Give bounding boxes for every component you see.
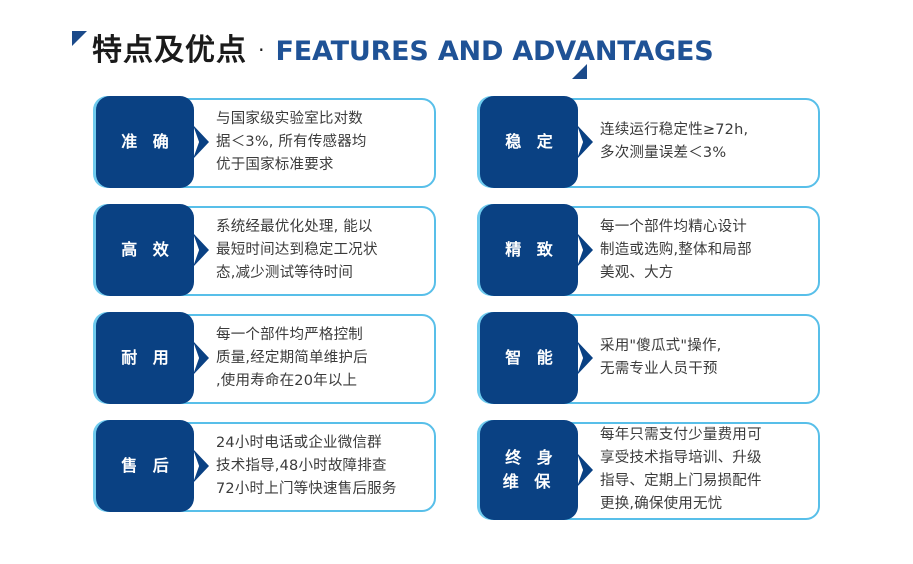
page-title-cn: 特点及优点 <box>92 33 247 68</box>
card-body-text: 采用"傻瓜式"操作, 无需专业人员干预 <box>600 335 808 381</box>
card-body: 每年只需支付少量费用可 享受技术指导培训、升级 指导、定期上门易损配件 更换,确… <box>600 420 808 520</box>
feature-card[interactable]: 耐 用 每一个部件均严格控制 质量,经定期简单维护后 ,使用寿命在20年以上 <box>96 312 436 404</box>
feature-card[interactable]: 精 致 每一个部件均精心设计 制造或选购,整体和局部 美观、大方 <box>480 204 820 296</box>
card-label-text: 终 身 维 保 <box>500 446 558 494</box>
feature-column-left: 准 确 与国家级实验室比对数 据＜3%, 所有传感器均 优于国家标准要求 高 效… <box>96 96 436 528</box>
card-label-text: 智 能 <box>500 346 558 370</box>
feature-card[interactable]: 准 确 与国家级实验室比对数 据＜3%, 所有传感器均 优于国家标准要求 <box>96 96 436 188</box>
feature-card[interactable]: 售 后 24小时电话或企业微信群 技术指导,48小时故障排查 72小时上门等快速… <box>96 420 436 512</box>
card-label-box: 耐 用 <box>96 312 194 404</box>
card-label-box: 精 致 <box>480 204 578 296</box>
card-label-box: 售 后 <box>96 420 194 512</box>
triangle-top-left-icon <box>72 31 87 46</box>
card-body: 每一个部件均精心设计 制造或选购,整体和局部 美观、大方 <box>600 204 808 296</box>
card-body: 采用"傻瓜式"操作, 无需专业人员干预 <box>600 312 808 404</box>
card-body-text: 每年只需支付少量费用可 享受技术指导培训、升级 指导、定期上门易损配件 更换,确… <box>600 424 808 516</box>
card-label-box: 准 确 <box>96 96 194 188</box>
page-title-en: FEATURES AND ADVANTAGES <box>276 36 714 67</box>
card-label-box: 稳 定 <box>480 96 578 188</box>
card-label-text: 售 后 <box>116 454 174 478</box>
card-label-box: 高 效 <box>96 204 194 296</box>
card-body: 24小时电话或企业微信群 技术指导,48小时故障排查 72小时上门等快速售后服务 <box>216 420 424 512</box>
card-body: 系统经最优化处理, 能以 最短时间达到稳定工况状 态,减少测试等待时间 <box>216 204 424 296</box>
card-body-text: 每一个部件均精心设计 制造或选购,整体和局部 美观、大方 <box>600 216 808 285</box>
feature-card[interactable]: 终 身 维 保 每年只需支付少量费用可 享受技术指导培训、升级 指导、定期上门易… <box>480 420 820 520</box>
card-label-text: 高 效 <box>116 238 174 262</box>
card-body: 与国家级实验室比对数 据＜3%, 所有传感器均 优于国家标准要求 <box>216 96 424 188</box>
card-body-text: 与国家级实验室比对数 据＜3%, 所有传感器均 优于国家标准要求 <box>216 108 424 177</box>
feature-card[interactable]: 稳 定 连续运行稳定性≥72h, 多次测量误差＜3% <box>480 96 820 188</box>
card-label-text: 准 确 <box>116 130 174 154</box>
card-label-box: 终 身 维 保 <box>480 420 578 520</box>
feature-card[interactable]: 智 能 采用"傻瓜式"操作, 无需专业人员干预 <box>480 312 820 404</box>
card-body-text: 连续运行稳定性≥72h, 多次测量误差＜3% <box>600 119 808 165</box>
feature-card[interactable]: 高 效 系统经最优化处理, 能以 最短时间达到稳定工况状 态,减少测试等待时间 <box>96 204 436 296</box>
card-label-text: 耐 用 <box>116 346 174 370</box>
page-title: 特点及优点 · FEATURES AND ADVANTAGES <box>92 28 714 78</box>
page-title-bar: 特点及优点 · FEATURES AND ADVANTAGES <box>72 28 632 84</box>
card-body-text: 24小时电话或企业微信群 技术指导,48小时故障排查 72小时上门等快速售后服务 <box>216 432 424 501</box>
card-body-text: 系统经最优化处理, 能以 最短时间达到稳定工况状 态,减少测试等待时间 <box>216 216 424 285</box>
card-body-text: 每一个部件均严格控制 质量,经定期简单维护后 ,使用寿命在20年以上 <box>216 324 424 393</box>
feature-column-right: 稳 定 连续运行稳定性≥72h, 多次测量误差＜3% 精 致 每一个部件均精心设… <box>480 96 820 536</box>
card-label-text: 稳 定 <box>500 130 558 154</box>
card-label-text: 精 致 <box>500 238 558 262</box>
card-body: 每一个部件均严格控制 质量,经定期简单维护后 ,使用寿命在20年以上 <box>216 312 424 404</box>
card-label-box: 智 能 <box>480 312 578 404</box>
page-title-separator: · <box>252 38 270 62</box>
card-body: 连续运行稳定性≥72h, 多次测量误差＜3% <box>600 96 808 188</box>
